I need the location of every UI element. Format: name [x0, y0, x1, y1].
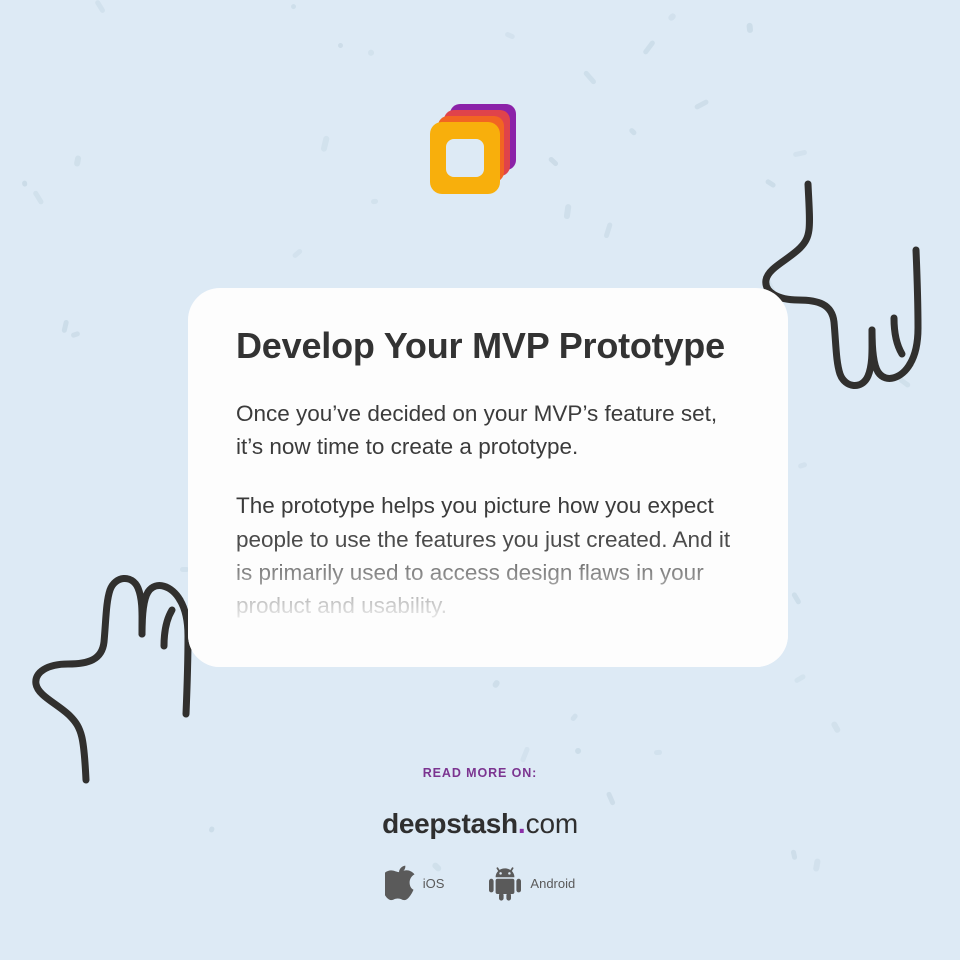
android-icon [488, 865, 522, 901]
speck [694, 99, 710, 110]
android-label: Android [530, 876, 575, 891]
card-content: Develop Your MVP Prototype Once you’ve d… [188, 288, 788, 622]
speck [628, 127, 637, 136]
speck [33, 189, 45, 204]
speck [62, 320, 70, 333]
speck [367, 49, 375, 57]
logo-amber-layer [430, 122, 500, 194]
speck [74, 155, 82, 167]
footer: READ MORE ON: deepstash.com iOS [0, 766, 960, 901]
speck [603, 222, 612, 239]
speck [792, 149, 807, 156]
speck [569, 713, 577, 722]
ios-store-badge[interactable]: iOS [385, 865, 445, 901]
speck [94, 0, 106, 14]
deepstash-logo[interactable] [430, 104, 516, 196]
store-badges: iOS [0, 865, 960, 901]
card-paragraph-1: Once you’ve decided on your MVP’s featur… [236, 397, 740, 464]
deepstash-wordmark[interactable]: deepstash.com [0, 808, 960, 840]
deepstash-share-card: Develop Your MVP Prototype Once you’ve d… [0, 0, 960, 960]
speck [504, 31, 515, 39]
speck [897, 377, 910, 389]
speck [794, 673, 807, 684]
speck [22, 180, 27, 186]
speck [642, 40, 655, 56]
speck [548, 156, 559, 167]
speck [830, 721, 841, 734]
speck [765, 178, 777, 189]
speck [573, 747, 581, 755]
speck [520, 746, 531, 763]
speck [290, 3, 297, 9]
speck [746, 22, 753, 32]
speck [291, 248, 303, 259]
card-paragraph-2: The prototype helps you picture how you … [236, 489, 740, 622]
speck [797, 462, 806, 469]
wordmark-brand: deepstash [382, 808, 518, 839]
speck [370, 198, 377, 203]
speck [583, 70, 597, 85]
apple-icon [385, 865, 415, 901]
speck [492, 679, 501, 689]
wordmark-dot: . [518, 808, 526, 839]
read-more-label: READ MORE ON: [0, 766, 960, 780]
hand-pointing-up-illustration [24, 562, 206, 784]
speck [338, 42, 344, 48]
ios-label: iOS [423, 876, 445, 891]
wordmark-tld: com [526, 808, 578, 839]
speck [654, 750, 662, 755]
speck [564, 204, 572, 219]
speck [70, 331, 80, 339]
android-store-badge[interactable]: Android [488, 865, 575, 901]
idea-card: Develop Your MVP Prototype Once you’ve d… [188, 288, 788, 667]
speck [791, 591, 802, 605]
page-title: Develop Your MVP Prototype [236, 321, 740, 371]
speck [667, 11, 677, 21]
speck [321, 136, 330, 153]
